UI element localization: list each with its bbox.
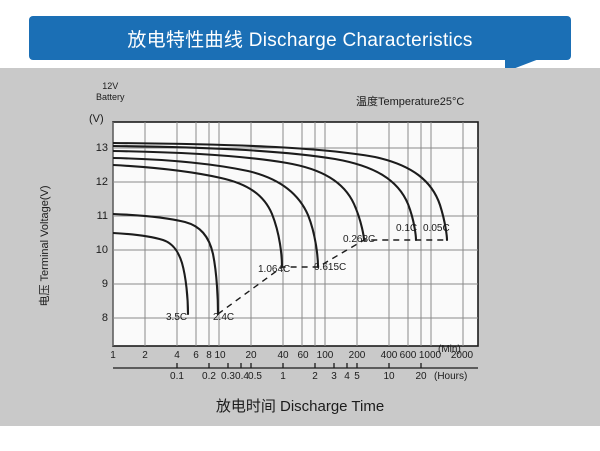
chart-sheet: 12V Battery 温度Temperature25°C (V) 电压 Ter…: [0, 68, 600, 426]
curve-label-3-5c: 3.5C: [166, 312, 187, 323]
x-tick-hr-10: 10: [379, 371, 399, 382]
x-tick-min-60: 60: [294, 350, 312, 361]
curve-label-0-05c: 0.05C: [423, 223, 450, 234]
x-tick-hr-0-1: 0.1: [167, 371, 187, 382]
x-axis-minutes-unit: (Min): [438, 344, 461, 355]
x-tick-min-40: 40: [274, 350, 292, 361]
curve-label-0-1c: 0.1C: [396, 223, 417, 234]
x-tick-hr-0-2: 0.2: [199, 371, 219, 382]
footer-spacer: [0, 426, 600, 451]
x-tick-hr-5: 5: [349, 371, 365, 382]
x-tick-hr-2: 2: [307, 371, 323, 382]
x-tick-min-20: 20: [242, 350, 260, 361]
x-tick-hr-20: 20: [411, 371, 431, 382]
x-axis-hours-unit: (Hours): [434, 371, 467, 382]
page-title: 放电特性曲线 Discharge Characteristics: [127, 25, 472, 52]
curve-label-2-4c: 2.4C: [213, 312, 234, 323]
header-banner: 放电特性曲线 Discharge Characteristics: [29, 16, 571, 60]
x-tick-min-2: 2: [137, 350, 153, 361]
x-tick-min-10: 10: [211, 350, 229, 361]
x-tick-hr-0-5: 0.5: [245, 371, 265, 382]
x-tick-min-1: 1: [105, 350, 121, 361]
curve-label-0-263c: 0.263C: [343, 234, 375, 245]
curve-label-0-615c: 0.615C: [314, 262, 346, 273]
discharge-characteristics-chart: 12V Battery 温度Temperature25°C (V) 电压 Ter…: [0, 68, 600, 426]
x-tick-min-200: 200: [346, 350, 368, 361]
x-axis-title: 放电时间 Discharge Time: [0, 395, 600, 416]
curve-label-1-064c: 1.064C: [258, 264, 290, 275]
x-tick-hr-1: 1: [275, 371, 291, 382]
header-banner-area: 放电特性曲线 Discharge Characteristics: [0, 0, 600, 68]
x-tick-min-100: 100: [314, 350, 336, 361]
x-tick-min-4: 4: [169, 350, 185, 361]
chart-plot-svg: [0, 68, 600, 426]
